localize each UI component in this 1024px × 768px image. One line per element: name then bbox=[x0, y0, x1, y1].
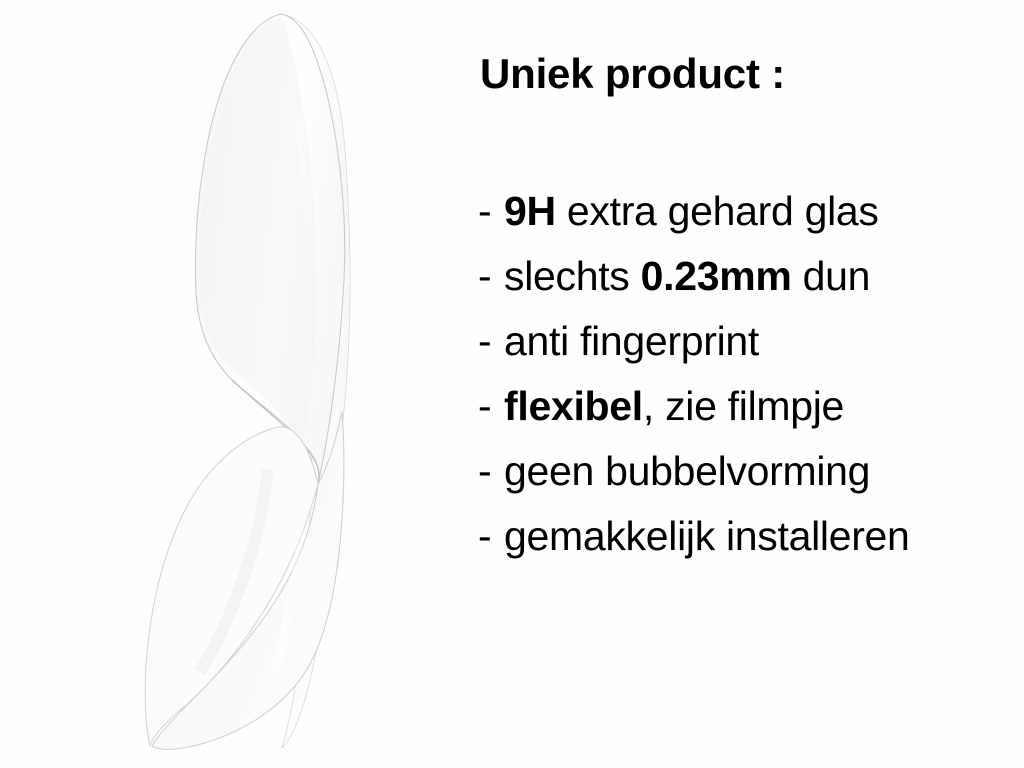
bullet-marker: - bbox=[478, 179, 504, 244]
bullet-text: dun bbox=[792, 253, 871, 299]
bullet-marker: - bbox=[478, 504, 504, 569]
feature-copy-block: Uniek product : -9H extra gehard glas -s… bbox=[478, 0, 1024, 768]
bullet-marker: - bbox=[478, 374, 504, 439]
bullet-text: anti fingerprint bbox=[504, 318, 759, 364]
list-item: -gemakkelijk installeren bbox=[478, 504, 1024, 569]
list-item: -anti fingerprint bbox=[478, 309, 1024, 374]
bullet-text: extra gehard glas bbox=[556, 188, 879, 234]
list-item: -geen bubbelvorming bbox=[478, 439, 1024, 504]
bullet-marker: - bbox=[478, 244, 504, 309]
bullet-marker: - bbox=[478, 439, 504, 504]
bullet-text: slechts bbox=[504, 253, 641, 299]
bullet-marker: - bbox=[478, 309, 504, 374]
bullet-text: gemakkelijk installeren bbox=[504, 513, 910, 559]
page-title: Uniek product : bbox=[480, 52, 785, 96]
product-feature-banner: Uniek product : -9H extra gehard glas -s… bbox=[0, 0, 1024, 768]
twisted-glass-illustration bbox=[0, 0, 460, 768]
bullet-text-strong: 0.23mm bbox=[641, 253, 792, 299]
list-item: -slechts 0.23mm dun bbox=[478, 244, 1024, 309]
list-item: -9H extra gehard glas bbox=[478, 179, 1024, 244]
list-item: -flexibel, zie filmpje bbox=[478, 374, 1024, 439]
bullet-text-strong: flexibel bbox=[504, 383, 643, 429]
feature-list: -9H extra gehard glas -slechts 0.23mm du… bbox=[478, 179, 1024, 569]
bullet-text: geen bubbelvorming bbox=[504, 448, 870, 494]
bullet-text-strong: 9H bbox=[504, 188, 556, 234]
product-image-twisted-glass bbox=[0, 0, 460, 768]
bullet-text: , zie filmpje bbox=[643, 383, 844, 429]
